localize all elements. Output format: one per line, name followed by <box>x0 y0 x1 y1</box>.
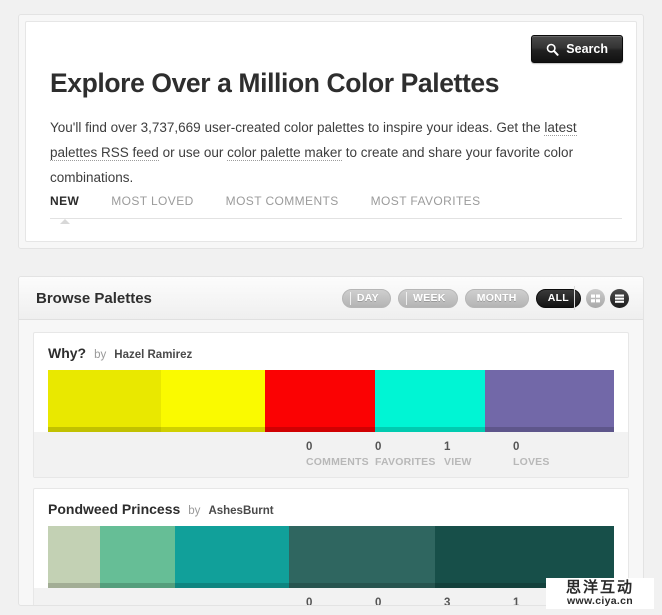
range-day-button[interactable]: DAY <box>342 289 391 308</box>
stat-favorites: 0 FAVORITES <box>375 440 444 469</box>
palette-header: Pondweed Princess by AshesBurnt <box>48 501 614 517</box>
color-swatch[interactable] <box>100 526 175 588</box>
stat-views: 3 VIEWS <box>444 596 513 606</box>
stat-comments-value: 0 <box>306 596 375 606</box>
color-swatch[interactable] <box>435 526 614 588</box>
hero-description-part2: or use our <box>159 145 227 160</box>
stat-favorites-label: FAVORITES <box>375 455 444 469</box>
stat-loves-label: LOVES <box>513 455 582 469</box>
page-title: Explore Over a Million Color Palettes <box>50 68 612 99</box>
search-icon <box>546 43 559 56</box>
color-swatch[interactable] <box>289 526 435 588</box>
palette-name[interactable]: Pondweed Princess <box>48 501 180 517</box>
palette-item: Pondweed Princess by AshesBurnt 0 COMMEN… <box>33 488 629 606</box>
view-mode-toggle <box>574 286 629 310</box>
hero-card-inner: Search Explore Over a Million Color Pale… <box>25 21 637 242</box>
search-button-label: Search <box>566 42 608 56</box>
palette-author[interactable]: Hazel Ramirez <box>114 349 192 361</box>
palette-stats: 0 COMMENTS 0 FAVORITES 1 VIEW 0 LOVES <box>34 432 628 477</box>
browse-header: Browse Palettes DAY WEEK MONTH ALL <box>19 277 643 320</box>
stat-views: 1 VIEW <box>444 440 513 469</box>
color-swatch[interactable] <box>265 370 375 432</box>
stat-favorites-value: 0 <box>375 440 444 455</box>
palette-by-label: by <box>94 349 106 361</box>
sort-tabs: NEW MOST LOVED MOST COMMENTS MOST FAVORI… <box>50 194 622 219</box>
stat-comments-value: 0 <box>306 440 375 455</box>
range-month-button[interactable]: MONTH <box>465 289 529 308</box>
hero-card: Search Explore Over a Million Color Pale… <box>18 14 644 249</box>
palette-swatches <box>48 526 614 588</box>
stat-comments: 0 COMMENTS <box>306 440 375 469</box>
color-palette-maker-link[interactable]: color palette maker <box>227 145 342 161</box>
color-swatch[interactable] <box>375 370 484 432</box>
color-swatch[interactable] <box>48 526 100 588</box>
stat-comments: 0 COMMENTS <box>306 596 375 606</box>
stat-loves: 1 LOVES <box>513 596 582 606</box>
color-swatch[interactable] <box>48 370 161 432</box>
browse-palettes-card: Browse Palettes DAY WEEK MONTH ALL <box>18 276 644 606</box>
palette-stats: 0 COMMENTS 0 FAVORITES 3 VIEWS 1 LOVES <box>34 588 628 606</box>
stat-loves: 0 LOVES <box>513 440 582 469</box>
stat-loves-value: 0 <box>513 440 582 455</box>
hero-description-part1: You'll find over 3,737,669 user-created … <box>50 120 544 135</box>
palette-swatches <box>48 370 614 432</box>
browse-title: Browse Palettes <box>36 290 152 307</box>
stat-favorites: 0 FAVORITES <box>375 596 444 606</box>
tab-new[interactable]: NEW <box>50 194 79 210</box>
stat-comments-label: COMMENTS <box>306 455 375 469</box>
palette-item: Why? by Hazel Ramirez 0 COMMENTS <box>33 332 629 478</box>
tab-most-loved[interactable]: MOST LOVED <box>111 194 193 210</box>
tab-most-favorites[interactable]: MOST FAVORITES <box>371 194 481 210</box>
palette-header: Why? by Hazel Ramirez <box>48 345 614 361</box>
color-swatch[interactable] <box>175 526 288 588</box>
palette-author[interactable]: AshesBurnt <box>208 505 273 517</box>
stat-views-value: 1 <box>444 440 513 455</box>
stat-views-value: 3 <box>444 596 513 606</box>
stat-favorites-value: 0 <box>375 596 444 606</box>
color-swatch[interactable] <box>485 370 614 432</box>
page-root: Search Explore Over a Million Color Pale… <box>0 0 662 615</box>
stat-loves-value: 1 <box>513 596 582 606</box>
hero-description: You'll find over 3,737,669 user-created … <box>50 115 612 190</box>
palette-list: Why? by Hazel Ramirez 0 COMMENTS <box>19 320 643 606</box>
time-range-filter: DAY WEEK MONTH ALL <box>342 289 581 308</box>
grid-view-icon[interactable] <box>586 289 605 308</box>
stat-views-label: VIEW <box>444 455 513 469</box>
list-view-icon[interactable] <box>610 289 629 308</box>
color-swatch[interactable] <box>161 370 265 432</box>
tab-most-comments[interactable]: MOST COMMENTS <box>226 194 339 210</box>
range-week-button[interactable]: WEEK <box>398 289 458 308</box>
palette-name[interactable]: Why? <box>48 345 86 361</box>
search-button[interactable]: Search <box>531 35 623 63</box>
palette-by-label: by <box>188 505 200 517</box>
